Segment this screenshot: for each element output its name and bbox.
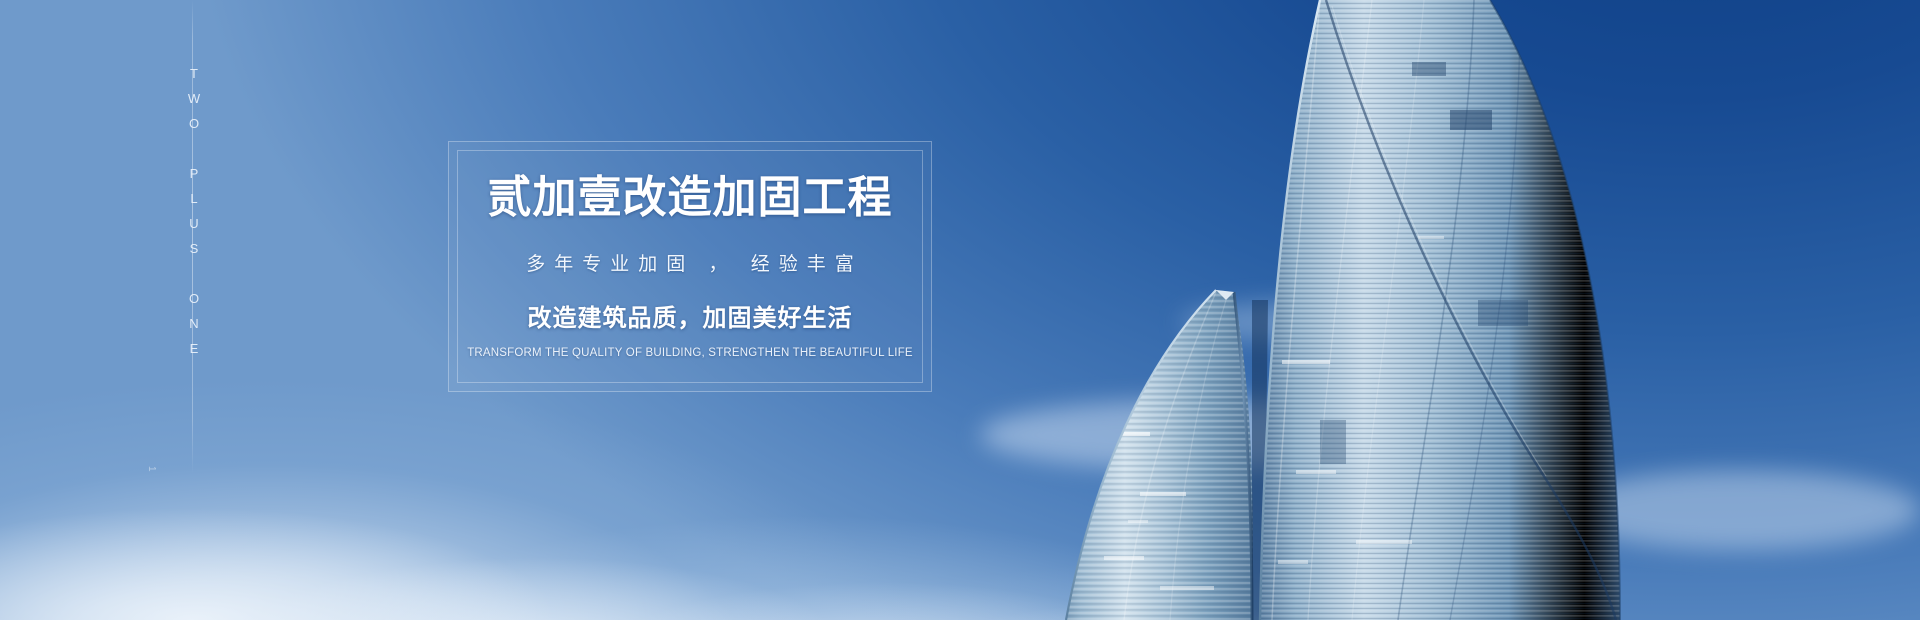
page-slogan: 改造建筑品质，加固美好生活: [528, 298, 853, 333]
cloud-wisp-2: [1180, 300, 1510, 344]
hero-text-panel: 贰加壹改造加固工程 多年专业加固 ， 经验丰富 改造建筑品质，加固美好生活 TR…: [448, 141, 932, 392]
hero-banner: TWO PLUS ONE 1: [0, 0, 1920, 620]
page-title: 贰加壹改造加固工程: [488, 174, 893, 222]
skyscraper-illustration: [1020, 0, 1920, 620]
side-mark-label: 1: [146, 466, 157, 474]
cloud-wisp-3: [1560, 470, 1920, 550]
vertical-brand: TWO PLUS ONE: [176, 66, 212, 316]
page-subtitle: 多年专业加固 ， 经验丰富: [517, 249, 863, 276]
page-slogan-english: TRANSFORM THE QUALITY OF BUILDING, STREN…: [467, 347, 913, 359]
vertical-brand-label: TWO PLUS ONE: [188, 66, 201, 366]
cloud-wisp-1: [980, 400, 1400, 470]
cloud-band: [0, 320, 1920, 620]
hero-panel-content: 贰加壹改造加固工程 多年专业加固 ， 经验丰富 改造建筑品质，加固美好生活 TR…: [449, 142, 931, 391]
